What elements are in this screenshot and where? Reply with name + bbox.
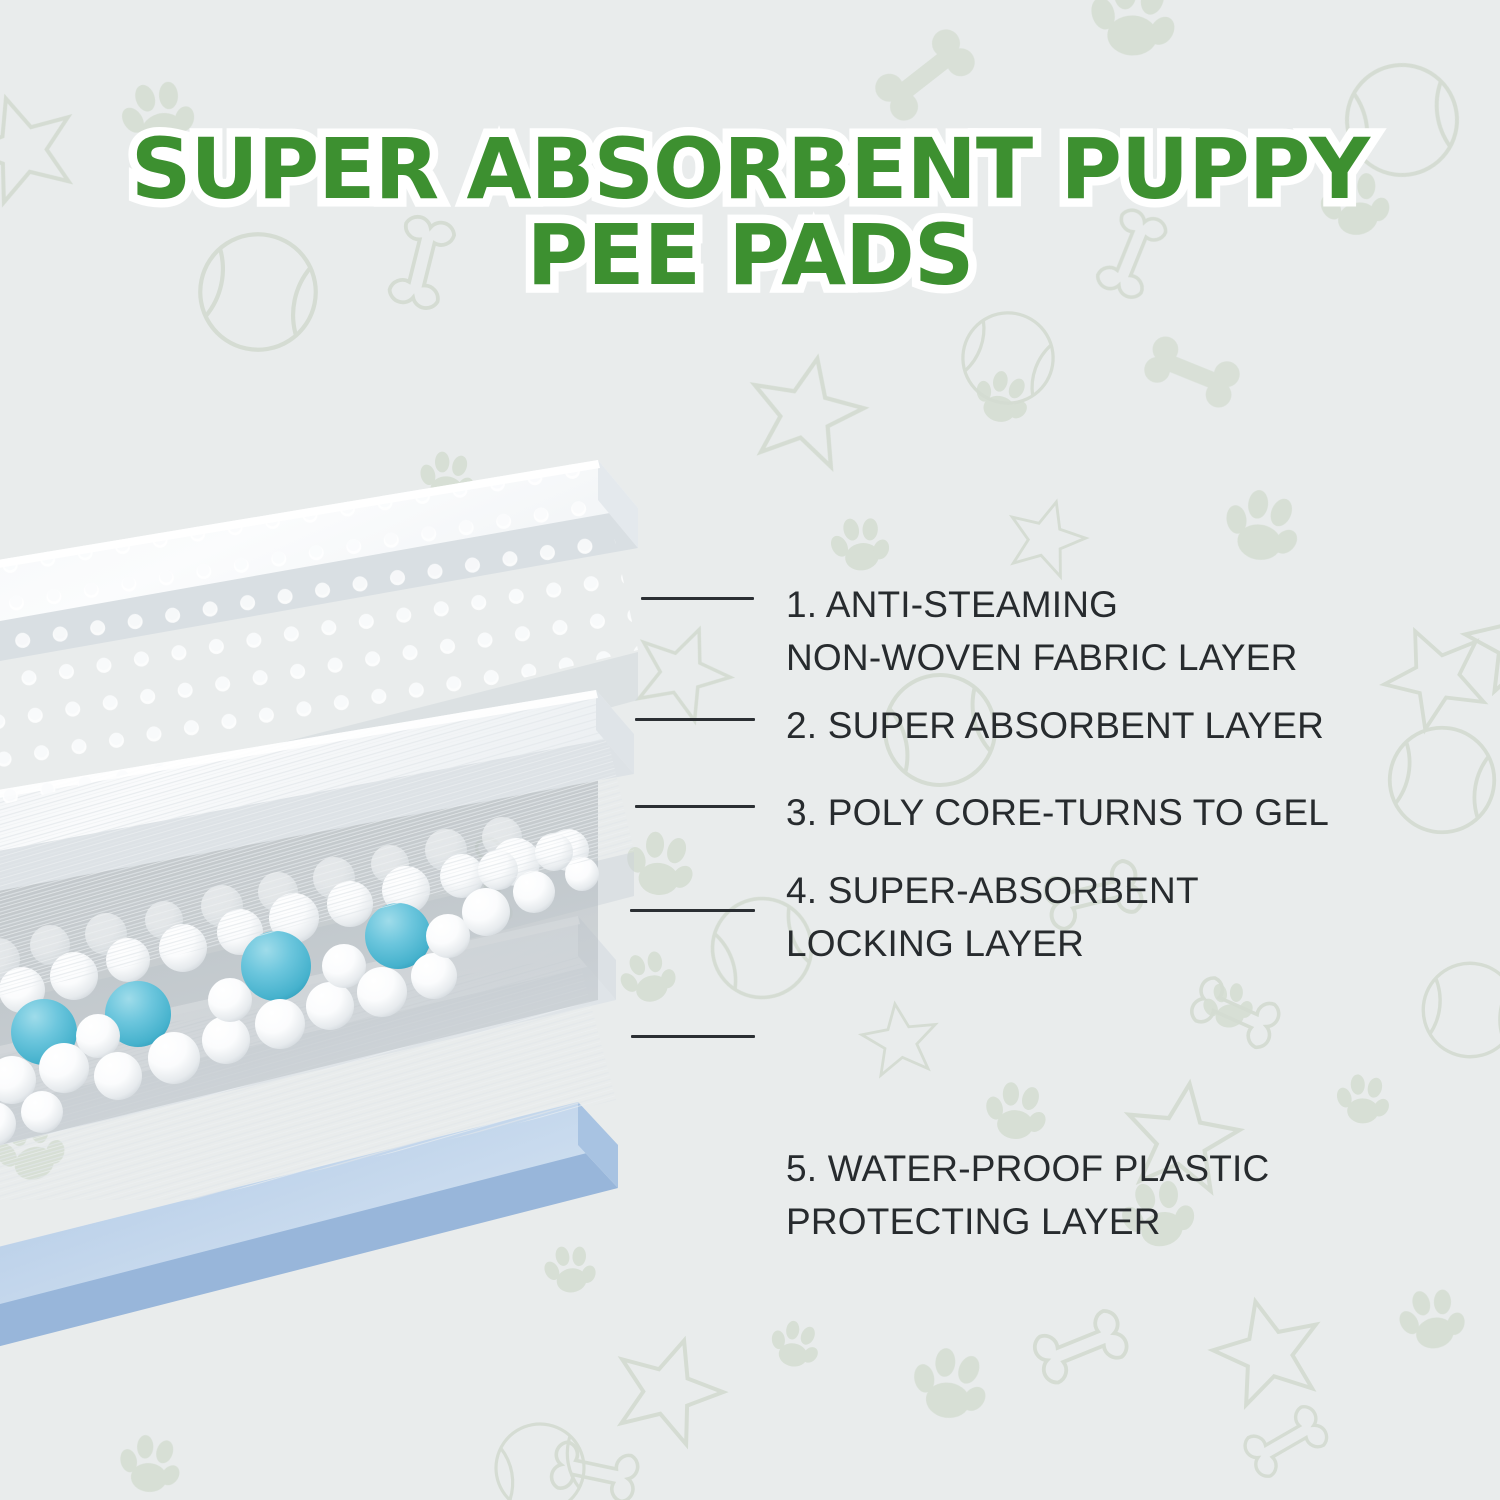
callout-label-3: 3. POLY CORE-TURNS TO GEL	[786, 787, 1426, 840]
leader-line-2	[635, 718, 755, 721]
leader-line-5	[631, 1035, 755, 1038]
leader-line-4	[630, 909, 755, 912]
callout-label-4: 4. SUPER-ABSORBENT LOCKING LAYER	[786, 865, 1426, 970]
leader-line-1	[641, 597, 754, 600]
callout-list: 1. ANTI-STEAMING NON-WOVEN FABRIC LAYER …	[0, 0, 1500, 1500]
callout-label-2: 2. SUPER ABSORBENT LAYER	[786, 700, 1426, 753]
leader-line-3	[635, 805, 755, 808]
callout-label-5: 5. WATER-PROOF PLASTIC PROTECTING LAYER	[786, 1143, 1426, 1248]
callout-label-1: 1. ANTI-STEAMING NON-WOVEN FABRIC LAYER	[786, 579, 1426, 684]
